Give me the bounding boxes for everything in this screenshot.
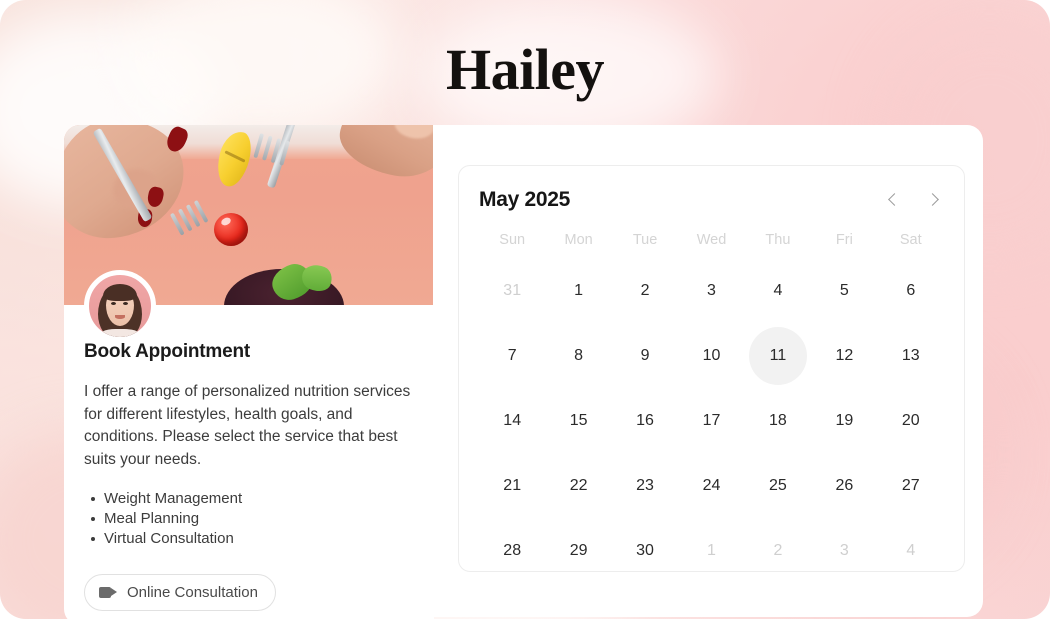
calendar-day-cell: 18 xyxy=(745,388,811,453)
brand-logo: Hailey xyxy=(0,36,1050,104)
calendar-day-cell: 11 xyxy=(745,323,811,388)
calendar-day[interactable]: 26 xyxy=(815,457,873,515)
calendar-panel: May 2025 SunMonTueWedThuFriSat 311234567… xyxy=(433,125,983,617)
calendar-day[interactable]: 9 xyxy=(616,327,674,385)
calendar-day-cell: 19 xyxy=(811,388,877,453)
cherry-tomato xyxy=(214,213,248,246)
list-item[interactable]: Weight Management xyxy=(84,489,414,509)
app-root: Hailey xyxy=(0,0,1050,619)
calendar-day-cell: 7 xyxy=(479,323,545,388)
calendar-day[interactable]: 7 xyxy=(483,327,541,385)
calendar-day-cell: 4 xyxy=(745,258,811,323)
calendar-nav xyxy=(884,190,942,210)
calendar-days-grid: 3112345678910111213141516171819202122232… xyxy=(479,258,944,583)
fork-tines-left xyxy=(170,199,212,238)
calendar-day-cell: 15 xyxy=(545,388,611,453)
calendar-day[interactable]: 4 xyxy=(749,262,807,320)
list-item[interactable]: Virtual Consultation xyxy=(84,529,414,549)
avatar-mouth xyxy=(115,315,125,319)
online-consultation-label: Online Consultation xyxy=(127,584,258,601)
avatar-fringe xyxy=(103,284,137,301)
weekday-label-thu: Thu xyxy=(745,232,811,248)
calendar-day[interactable]: 22 xyxy=(550,457,608,515)
calendar-day[interactable]: 27 xyxy=(882,457,940,515)
calendar-day-cell: 31 xyxy=(479,258,545,323)
page-title: Book Appointment xyxy=(84,341,414,363)
calendar-day[interactable]: 16 xyxy=(616,392,674,450)
calendar-day-cell: 12 xyxy=(811,323,877,388)
calendar-day-cell: 27 xyxy=(878,453,944,518)
calendar-day-cell: 21 xyxy=(479,453,545,518)
calendar-day[interactable]: 8 xyxy=(550,327,608,385)
calendar-day-cell: 2 xyxy=(745,518,811,583)
calendar-day-cell: 13 xyxy=(878,323,944,388)
avatar xyxy=(84,270,156,342)
calendar-day[interactable]: 20 xyxy=(882,392,940,450)
calendar-day[interactable]: 3 xyxy=(815,522,873,580)
calendar-day[interactable]: 30 xyxy=(616,522,674,580)
calendar-day[interactable]: 4 xyxy=(882,522,940,580)
weekday-header-row: SunMonTueWedThuFriSat xyxy=(479,232,944,248)
list-item[interactable]: Meal Planning xyxy=(84,509,414,529)
calendar-day[interactable]: 14 xyxy=(483,392,541,450)
calendar-day[interactable]: 5 xyxy=(815,262,873,320)
calendar-day-cell: 8 xyxy=(545,323,611,388)
calendar-day-cell: 10 xyxy=(678,323,744,388)
calendar-day[interactable]: 10 xyxy=(682,327,740,385)
calendar-day-cell: 30 xyxy=(612,518,678,583)
calendar-day[interactable]: 25 xyxy=(749,457,807,515)
calendar-day[interactable]: 18 xyxy=(749,392,807,450)
calendar-day-cell: 28 xyxy=(479,518,545,583)
calendar-month-label: May 2025 xyxy=(479,188,570,212)
calendar-day-cell: 4 xyxy=(878,518,944,583)
calendar-day[interactable]: 24 xyxy=(682,457,740,515)
booking-card-body: Book Appointment I offer a range of pers… xyxy=(64,305,434,611)
calendar-day-cell: 6 xyxy=(878,258,944,323)
calendar-day[interactable]: 29 xyxy=(550,522,608,580)
weekday-label-mon: Mon xyxy=(545,232,611,248)
calendar-header: May 2025 xyxy=(479,184,944,216)
calendar-day[interactable]: 12 xyxy=(815,327,873,385)
weekday-label-sat: Sat xyxy=(878,232,944,248)
calendar-day-cell: 9 xyxy=(612,323,678,388)
hand-top-right xyxy=(334,125,434,184)
calendar-day-cell: 25 xyxy=(745,453,811,518)
weekday-label-sun: Sun xyxy=(479,232,545,248)
service-list: Weight Management Meal Planning Virtual … xyxy=(84,489,414,549)
calendar-day[interactable]: 19 xyxy=(815,392,873,450)
calendar-day-cell: 17 xyxy=(678,388,744,453)
finger-detail xyxy=(392,125,434,141)
calendar-day[interactable]: 17 xyxy=(682,392,740,450)
video-camera-icon xyxy=(99,586,118,599)
calendar-day[interactable]: 23 xyxy=(616,457,674,515)
calendar-day[interactable]: 3 xyxy=(682,262,740,320)
avatar-eye xyxy=(123,302,128,305)
calendar-day[interactable]: 1 xyxy=(682,522,740,580)
calendar-day-cell: 22 xyxy=(545,453,611,518)
calendar-day-cell: 16 xyxy=(612,388,678,453)
booking-card: Book Appointment I offer a range of pers… xyxy=(64,125,434,619)
calendar-day-cell: 1 xyxy=(678,518,744,583)
calendar-day-cell: 20 xyxy=(878,388,944,453)
calendar-day[interactable]: 15 xyxy=(550,392,608,450)
calendar-day-cell: 3 xyxy=(678,258,744,323)
calendar-day-selected[interactable]: 11 xyxy=(749,327,807,385)
calendar-day-cell: 29 xyxy=(545,518,611,583)
weekday-label-tue: Tue xyxy=(612,232,678,248)
calendar-day-cell: 5 xyxy=(811,258,877,323)
calendar-day[interactable]: 6 xyxy=(882,262,940,320)
calendar-day[interactable]: 13 xyxy=(882,327,940,385)
chevron-right-icon[interactable] xyxy=(922,190,942,210)
online-consultation-button[interactable]: Online Consultation xyxy=(84,574,276,611)
calendar-day-cell: 23 xyxy=(612,453,678,518)
calendar-day-cell: 14 xyxy=(479,388,545,453)
weekday-label-fri: Fri xyxy=(811,232,877,248)
calendar-day[interactable]: 1 xyxy=(550,262,608,320)
calendar-day[interactable]: 31 xyxy=(483,262,541,320)
calendar-widget: May 2025 SunMonTueWedThuFriSat 311234567… xyxy=(458,165,965,572)
calendar-day-cell: 26 xyxy=(811,453,877,518)
calendar-day-cell: 1 xyxy=(545,258,611,323)
calendar-day[interactable]: 2 xyxy=(749,522,807,580)
calendar-day[interactable]: 21 xyxy=(483,457,541,515)
avatar-eye xyxy=(111,302,116,305)
calendar-day-cell: 24 xyxy=(678,453,744,518)
card-description: I offer a range of personalized nutritio… xyxy=(84,381,414,471)
chevron-left-icon[interactable] xyxy=(884,190,904,210)
calendar-day[interactable]: 2 xyxy=(616,262,674,320)
calendar-day[interactable]: 28 xyxy=(483,522,541,580)
weekday-label-wed: Wed xyxy=(678,232,744,248)
calendar-day-cell: 3 xyxy=(811,518,877,583)
calendar-day-cell: 2 xyxy=(612,258,678,323)
